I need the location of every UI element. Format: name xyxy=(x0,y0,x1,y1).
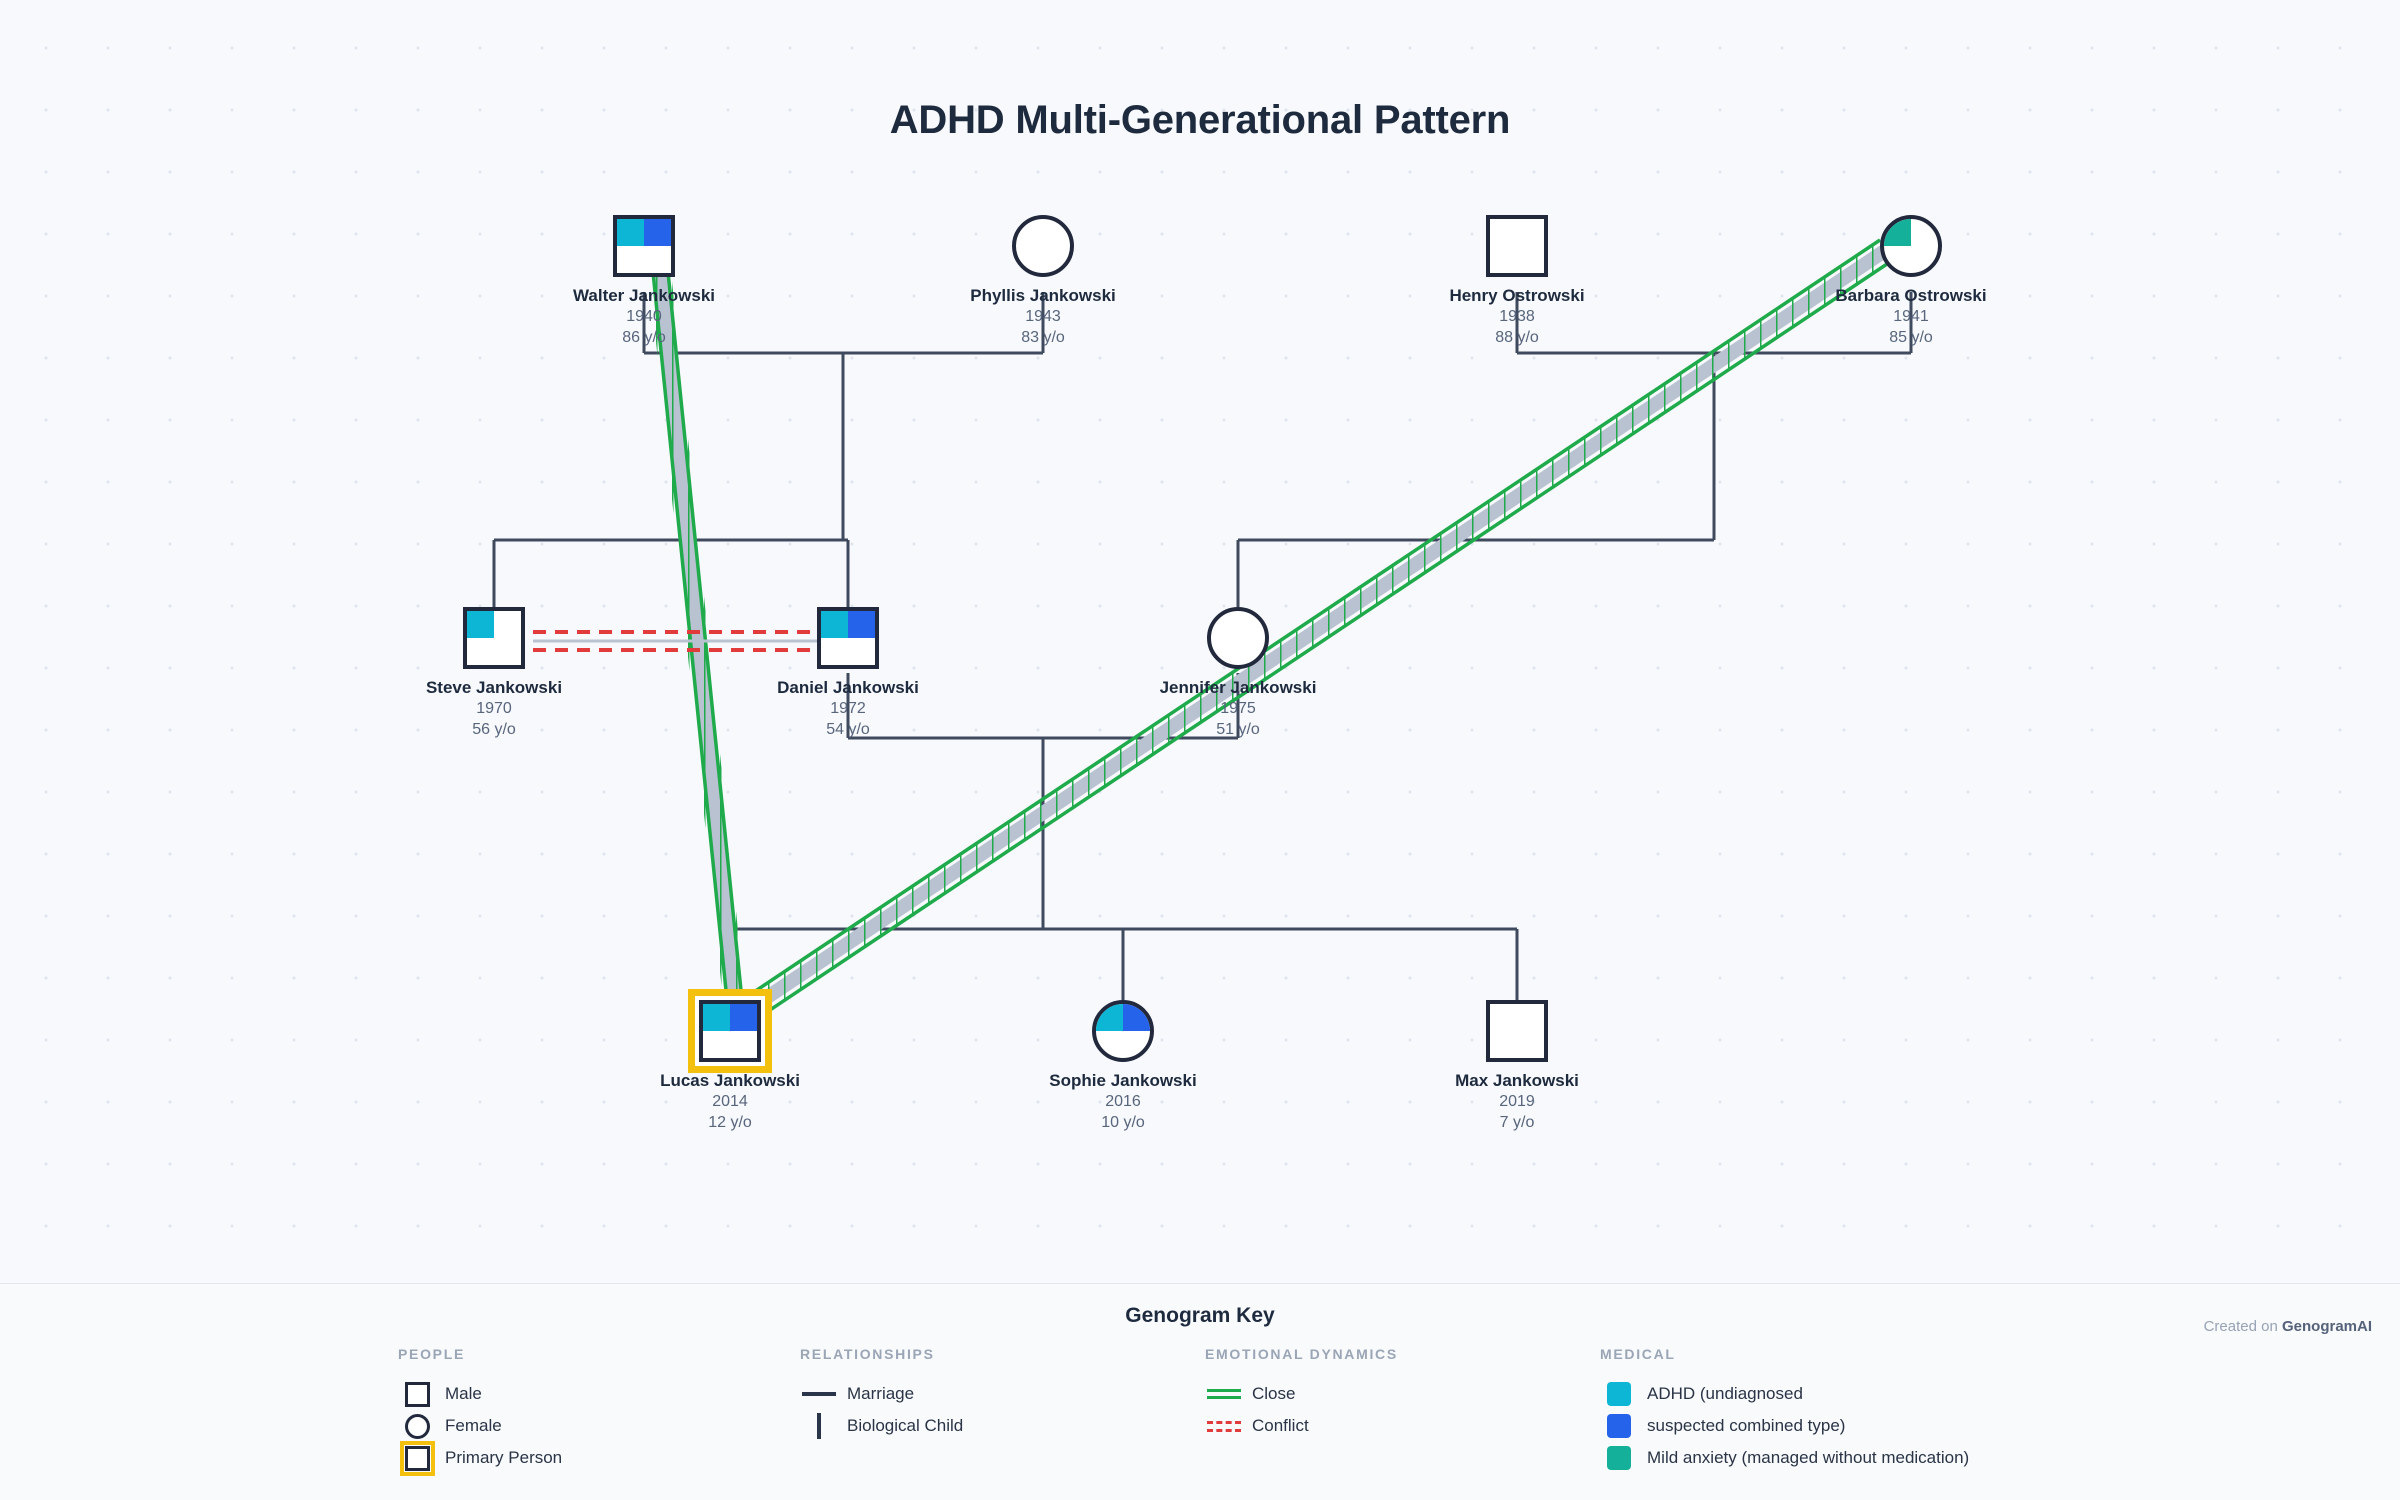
key-item-close-line: Close xyxy=(1205,1378,1398,1410)
medical-marker-combined xyxy=(848,611,875,638)
combined-type-color-icon xyxy=(1607,1414,1631,1438)
medical-marker-combined xyxy=(730,1004,757,1031)
key-column-people: PEOPLEMaleFemalePrimary Person xyxy=(398,1346,562,1474)
key-item-circle-swatch: Female xyxy=(398,1410,562,1442)
key-item-label: Male xyxy=(445,1384,482,1404)
key-item-label: Close xyxy=(1252,1384,1295,1404)
key-column-emotional: EMOTIONAL DYNAMICSCloseConflict xyxy=(1205,1346,1398,1442)
key-item-conflict-line: Conflict xyxy=(1205,1410,1398,1442)
male-square-shape xyxy=(1486,215,1548,277)
key-column-heading: RELATIONSHIPS xyxy=(800,1346,963,1362)
medical-marker-adhd xyxy=(467,611,494,638)
key-item-marriage-line: Marriage xyxy=(800,1378,963,1410)
brand-name: GenogramAI xyxy=(2282,1318,2372,1335)
adhd-color-icon xyxy=(1607,1382,1631,1406)
medical-marker-combined xyxy=(644,219,671,246)
genogram-canvas[interactable]: ADHD Multi-Generational Pattern xyxy=(0,0,2400,1283)
key-item-icon-wrap xyxy=(1205,1413,1243,1439)
key-item-label: Female xyxy=(445,1416,502,1436)
key-item-label: Primary Person xyxy=(445,1448,562,1468)
key-item-primary-person-swatch: Primary Person xyxy=(398,1442,562,1474)
key-item-anxiety-swatch: Mild anxiety (managed without medication… xyxy=(1600,1442,1969,1474)
square-icon xyxy=(405,1382,430,1407)
key-title: Genogram Key xyxy=(0,1304,2400,1328)
key-item-square-swatch: Male xyxy=(398,1378,562,1410)
key-column-heading: EMOTIONAL DYNAMICS xyxy=(1205,1346,1398,1362)
genogram-key: Genogram Key Created on GenogramAI PEOPL… xyxy=(0,1283,2400,1500)
key-item-icon-wrap xyxy=(398,1381,436,1407)
key-item-label: Marriage xyxy=(847,1384,914,1404)
male-square-shape xyxy=(699,1000,761,1062)
key-column-medical: MEDICALADHD (undiagnosedsuspected combin… xyxy=(1600,1346,1969,1474)
created-on-attribution: Created on GenogramAI xyxy=(2204,1318,2372,1335)
male-square-shape xyxy=(463,607,525,669)
key-item-icon-wrap xyxy=(800,1413,838,1439)
key-item-biological-child-line: Biological Child xyxy=(800,1410,963,1442)
female-circle-shape xyxy=(1012,215,1074,277)
marriage-line-icon xyxy=(802,1392,836,1396)
key-item-label: Mild anxiety (managed without medication… xyxy=(1647,1448,1969,1468)
key-column-relationships: RELATIONSHIPSMarriageBiological Child xyxy=(800,1346,963,1442)
key-item-label: Biological Child xyxy=(847,1416,963,1436)
key-item-icon-wrap xyxy=(398,1445,436,1471)
primary-person-icon xyxy=(405,1446,430,1471)
female-circle-shape xyxy=(1092,1000,1154,1062)
key-column-heading: PEOPLE xyxy=(398,1346,562,1362)
circle-icon xyxy=(405,1414,430,1439)
created-prefix: Created on xyxy=(2204,1318,2282,1335)
anxiety-color-icon xyxy=(1607,1446,1631,1470)
medical-marker-adhd xyxy=(821,611,848,638)
medical-marker-adhd xyxy=(1096,1004,1123,1031)
close-line-icon xyxy=(1207,1389,1241,1399)
conflict-line-icon xyxy=(1207,1421,1241,1432)
key-item-combined-swatch: suspected combined type) xyxy=(1600,1410,1969,1442)
key-item-label: Conflict xyxy=(1252,1416,1309,1436)
medical-marker-combined xyxy=(1123,1004,1150,1031)
key-item-icon-wrap xyxy=(1600,1445,1638,1471)
key-column-heading: MEDICAL xyxy=(1600,1346,1969,1362)
female-circle-shape xyxy=(1880,215,1942,277)
key-item-icon-wrap xyxy=(1205,1381,1243,1407)
medical-marker-anxiety xyxy=(1884,219,1911,246)
relationship-edges xyxy=(0,0,2400,1283)
female-circle-shape xyxy=(1207,607,1269,669)
medical-marker-adhd xyxy=(703,1004,730,1031)
male-square-shape xyxy=(817,607,879,669)
key-item-label: ADHD (undiagnosed xyxy=(1647,1384,1803,1404)
male-square-shape xyxy=(1486,1000,1548,1062)
medical-marker-adhd xyxy=(617,219,644,246)
key-item-icon-wrap xyxy=(398,1413,436,1439)
key-item-label: suspected combined type) xyxy=(1647,1416,1845,1436)
key-item-icon-wrap xyxy=(1600,1381,1638,1407)
male-square-shape xyxy=(613,215,675,277)
key-item-adhd-swatch: ADHD (undiagnosed xyxy=(1600,1378,1969,1410)
key-item-icon-wrap xyxy=(1600,1413,1638,1439)
biological-child-line-icon xyxy=(817,1413,821,1439)
key-item-icon-wrap xyxy=(800,1381,838,1407)
